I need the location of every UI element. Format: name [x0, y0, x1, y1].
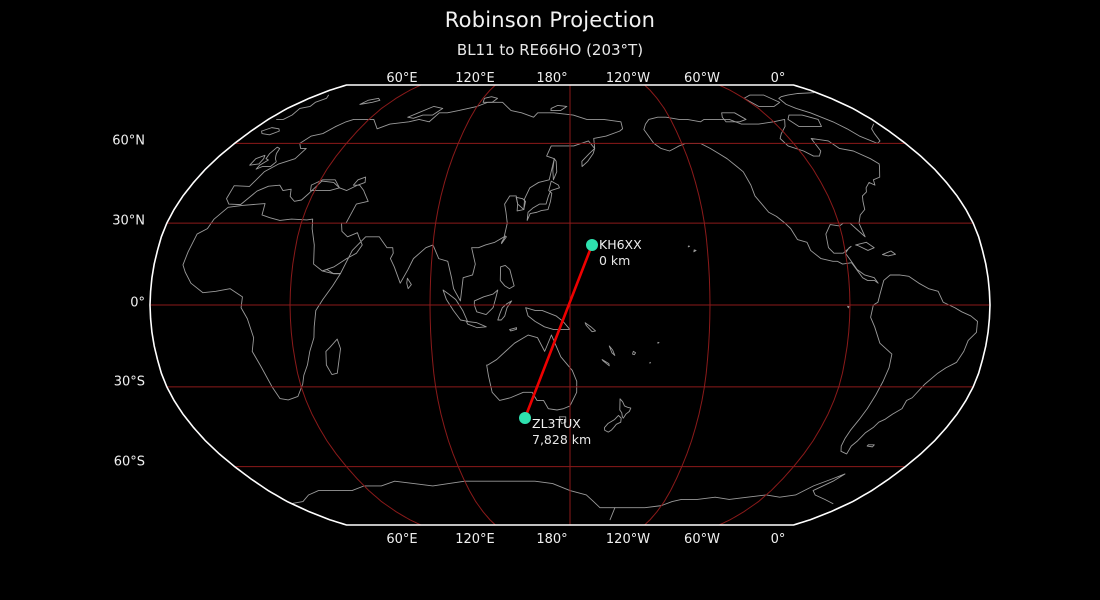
lat-tick-label: 30°N: [112, 214, 145, 229]
lat-tick-label: 0°: [130, 296, 145, 311]
station-callsign-kh6xx: KH6XX: [599, 238, 642, 252]
coastline-segment: [658, 342, 659, 343]
lon-tick-label-top: 120°W: [606, 71, 650, 86]
map-figure: Robinson Projection BL11 to RE66HO (203°…: [0, 0, 1100, 600]
robinson-map-canvas: [0, 0, 1100, 600]
lat-tick-label: 60°N: [112, 134, 145, 149]
station-callsign-zl3tux: ZL3TUX: [532, 417, 581, 431]
lon-tick-label-top: 180°: [536, 71, 567, 86]
station-marker-zl3tux[interactable]: [519, 412, 531, 424]
lon-tick-label-bottom: 0°: [771, 532, 786, 547]
coastline-segment: [688, 246, 689, 247]
station-distance-kh6xx: 0 km: [599, 253, 630, 268]
coastline-segment: [650, 362, 651, 363]
lon-tick-label-bottom: 60°W: [684, 532, 720, 547]
lon-tick-label-top: 60°E: [386, 71, 417, 86]
station-distance-zl3tux: 7,828 km: [532, 432, 591, 447]
lon-tick-label-bottom: 120°W: [606, 532, 650, 547]
lat-tick-label: 60°S: [114, 455, 145, 470]
lat-tick-label: 30°S: [114, 375, 145, 390]
lon-tick-label-bottom: 180°: [536, 532, 567, 547]
coastline-segment: [848, 306, 849, 307]
lon-tick-label-bottom: 120°E: [455, 532, 495, 547]
lon-tick-label-top: 120°E: [455, 71, 495, 86]
lon-tick-label-top: 0°: [771, 71, 786, 86]
lon-tick-label-top: 60°W: [684, 71, 720, 86]
station-marker-kh6xx[interactable]: [586, 239, 598, 251]
lon-tick-label-bottom: 60°E: [386, 532, 417, 547]
